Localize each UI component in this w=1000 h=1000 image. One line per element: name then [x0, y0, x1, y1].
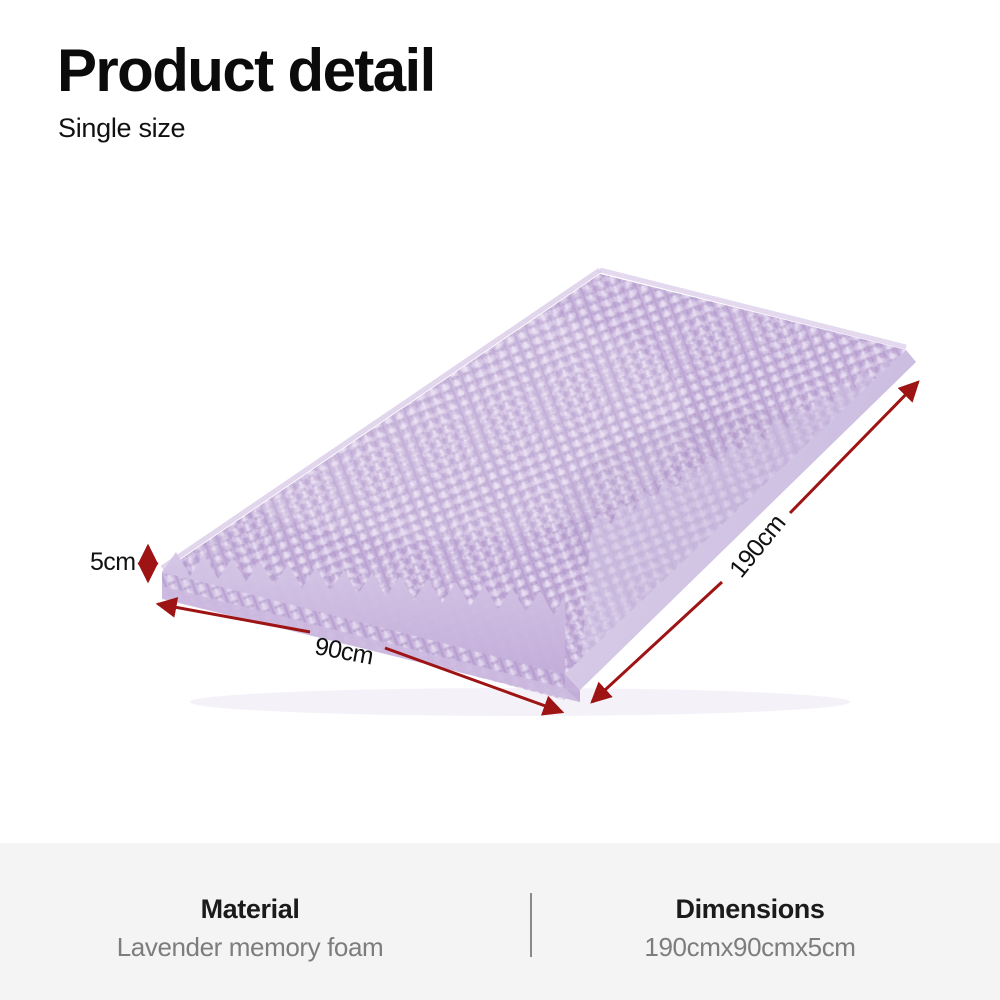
spec-dimensions-title: Dimensions [500, 895, 1000, 925]
product-illustration [0, 190, 1000, 840]
spec-material: Material Lavender memory foam [0, 843, 500, 961]
spec-material-title: Material [0, 895, 500, 925]
spec-bar: Material Lavender memory foam Dimensions… [0, 843, 1000, 1000]
spec-material-value: Lavender memory foam [0, 933, 500, 962]
page-subtitle: Single size [58, 113, 757, 144]
header: Product detail Single size [57, 40, 757, 144]
spec-divider [530, 893, 532, 957]
product-shadow [190, 688, 850, 716]
mattress-foam-image [0, 190, 1000, 840]
spec-dimensions: Dimensions 190cmx90cmx5cm [500, 843, 1000, 961]
page-title: Product detail [57, 40, 757, 101]
product-detail-page: Product detail Single size [0, 0, 1000, 1000]
height-dimension-label: 5cm [90, 548, 135, 577]
spec-dimensions-value: 190cmx90cmx5cm [500, 933, 1000, 962]
